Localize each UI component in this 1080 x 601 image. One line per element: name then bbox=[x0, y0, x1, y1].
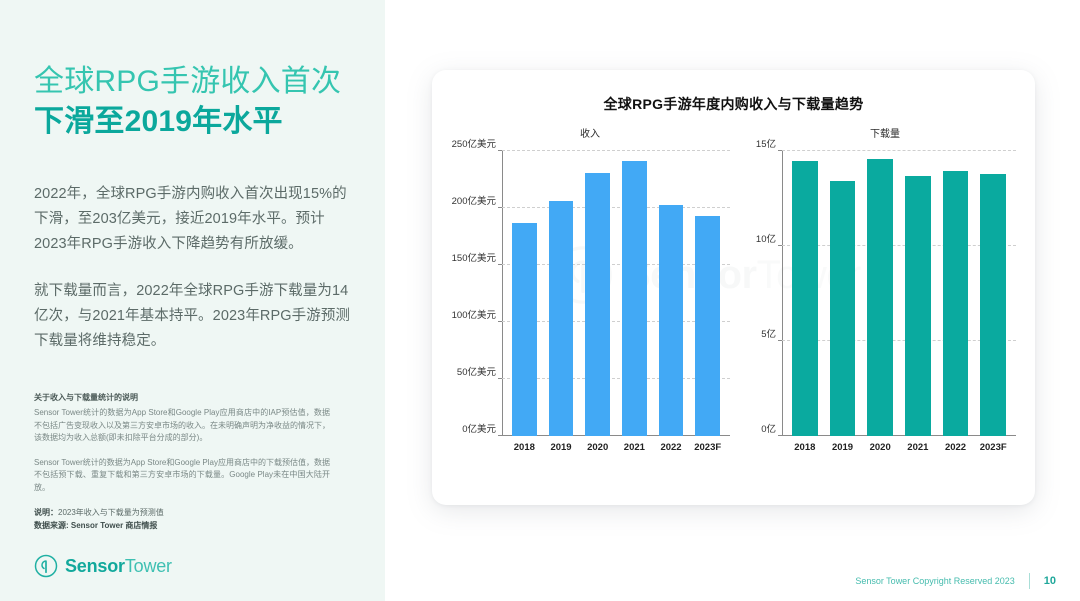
revenue-x-tick-labels: 201820192020202120222023F bbox=[502, 442, 730, 453]
right-chart-area: 全球RPG手游年度内购收入与下载量趋势 SensorTower 收入 bbox=[385, 0, 1080, 601]
downloads-y-tick-label: 5亿 bbox=[761, 326, 776, 340]
revenue-bar-2018[interactable] bbox=[512, 223, 537, 436]
logo-text-bold: Sensor bbox=[65, 556, 125, 576]
fine-print-note-value: 2023年收入与下载量为预测值 bbox=[58, 508, 164, 517]
downloads-y-tick-label: 15亿 bbox=[756, 136, 776, 150]
revenue-bar-2019[interactable] bbox=[549, 201, 574, 436]
fine-print-source: 数据来源: Sensor Tower 商店情报 bbox=[34, 519, 330, 532]
downloads-bar-2019[interactable] bbox=[830, 181, 856, 436]
revenue-y-tick-label: 50亿美元 bbox=[457, 364, 496, 378]
downloads-bar-2018[interactable] bbox=[792, 161, 818, 436]
sensor-tower-logo: SensorTower bbox=[34, 554, 172, 578]
revenue-x-label-2019: 2019 bbox=[543, 442, 580, 453]
sensor-tower-logo-text: SensorTower bbox=[65, 554, 172, 578]
downloads-x-tick-labels: 201820192020202120222023F bbox=[782, 442, 1016, 453]
downloads-y-tick-label: 10亿 bbox=[756, 231, 776, 245]
revenue-bar-slot bbox=[506, 151, 543, 436]
subplot-downloads-title: 下载量 bbox=[740, 125, 1030, 140]
revenue-bar-slot bbox=[543, 151, 580, 436]
slide-footer: Sensor Tower Copyright Reserved 2023 10 bbox=[855, 573, 1056, 589]
revenue-bar-2022[interactable] bbox=[659, 205, 684, 436]
downloads-bar-slot bbox=[899, 151, 937, 436]
subplot-downloads: 下载量 0亿5亿10亿15亿 201820192020202120222023F bbox=[740, 125, 1030, 500]
downloads-x-label-2022: 2022 bbox=[937, 442, 975, 453]
downloads-bar-slot bbox=[937, 151, 975, 436]
revenue-plot-area: 0亿美元50亿美元100亿美元150亿美元200亿美元250亿美元 bbox=[502, 151, 730, 436]
slide-root: 全球RPG手游收入首次 下滑至2019年水平 2022年，全球RPG手游内购收入… bbox=[0, 0, 1080, 601]
revenue-bar-2023F[interactable] bbox=[695, 216, 720, 436]
downloads-bar-slot bbox=[861, 151, 899, 436]
left-text-panel: 全球RPG手游收入首次 下滑至2019年水平 2022年，全球RPG手游内购收入… bbox=[0, 0, 385, 601]
footer-divider bbox=[1029, 573, 1030, 589]
revenue-bars bbox=[502, 151, 730, 436]
fine-print-paragraph-1: Sensor Tower统计的数据为App Store和Google Play应… bbox=[34, 407, 330, 445]
downloads-bars bbox=[782, 151, 1016, 436]
downloads-bar-slot bbox=[786, 151, 824, 436]
downloads-x-label-2018: 2018 bbox=[786, 442, 824, 453]
revenue-x-label-2018: 2018 bbox=[506, 442, 543, 453]
fine-print-block: 关于收入与下载量统计的说明 Sensor Tower统计的数据为App Stor… bbox=[34, 392, 330, 532]
body-copy: 2022年，全球RPG手游内购收入首次出现15%的下滑，至203亿美元，接近20… bbox=[34, 182, 354, 376]
revenue-x-label-2021: 2021 bbox=[616, 442, 653, 453]
chart-card: 全球RPG手游年度内购收入与下载量趋势 SensorTower 收入 bbox=[432, 70, 1035, 505]
downloads-y-tick-label: 0亿 bbox=[761, 421, 776, 435]
revenue-y-tick-label: 100亿美元 bbox=[452, 307, 496, 321]
logo-text-light: Tower bbox=[125, 556, 172, 576]
chart-title: 全球RPG手游年度内购收入与下载量趋势 bbox=[432, 94, 1035, 114]
headline-line-2: 下滑至2019年水平 bbox=[34, 102, 364, 142]
downloads-bar-2020[interactable] bbox=[867, 159, 893, 436]
revenue-bar-slot bbox=[616, 151, 653, 436]
fine-print-note-label: 说明： bbox=[34, 508, 58, 517]
charts-container: 收入 0亿美元50亿美元100亿美元150亿美元200亿美元250亿美元 201… bbox=[432, 125, 1035, 500]
body-paragraph-2: 就下载量而言，2022年全球RPG手游下载量为14亿次，与2021年基本持平。2… bbox=[34, 279, 354, 354]
revenue-y-tick-label: 250亿美元 bbox=[452, 136, 496, 150]
downloads-bar-slot bbox=[974, 151, 1012, 436]
revenue-bar-2020[interactable] bbox=[585, 173, 610, 436]
page-title: 全球RPG手游收入首次 下滑至2019年水平 bbox=[34, 62, 364, 142]
revenue-x-label-2020: 2020 bbox=[579, 442, 616, 453]
body-paragraph-1: 2022年，全球RPG手游内购收入首次出现15%的下滑，至203亿美元，接近20… bbox=[34, 182, 354, 257]
revenue-x-label-2023F: 2023F bbox=[689, 442, 726, 453]
downloads-x-label-2019: 2019 bbox=[824, 442, 862, 453]
subplot-revenue: 收入 0亿美元50亿美元100亿美元150亿美元200亿美元250亿美元 201… bbox=[440, 125, 740, 500]
revenue-y-tick-label: 150亿美元 bbox=[452, 250, 496, 264]
fine-print-heading: 关于收入与下载量统计的说明 bbox=[34, 392, 330, 404]
revenue-y-tick-label: 0亿美元 bbox=[462, 421, 496, 435]
sensor-tower-logo-icon bbox=[34, 554, 58, 578]
downloads-x-label-2023F: 2023F bbox=[974, 442, 1012, 453]
downloads-bar-2021[interactable] bbox=[905, 176, 931, 436]
fine-print-note: 说明：2023年收入与下载量为预测值 bbox=[34, 506, 330, 519]
downloads-bar-2023F[interactable] bbox=[980, 174, 1006, 436]
revenue-y-tick-label: 200亿美元 bbox=[452, 193, 496, 207]
downloads-bar-2022[interactable] bbox=[943, 171, 969, 436]
downloads-plot-area: 0亿5亿10亿15亿 bbox=[782, 151, 1016, 436]
revenue-bar-slot bbox=[689, 151, 726, 436]
revenue-bar-slot bbox=[653, 151, 690, 436]
footer-copyright: Sensor Tower Copyright Reserved 2023 bbox=[855, 576, 1014, 586]
revenue-bar-slot bbox=[579, 151, 616, 436]
downloads-bar-slot bbox=[824, 151, 862, 436]
revenue-bar-2021[interactable] bbox=[622, 161, 647, 436]
page-number: 10 bbox=[1044, 575, 1056, 587]
headline-line-1: 全球RPG手游收入首次 bbox=[34, 62, 364, 102]
downloads-x-label-2020: 2020 bbox=[861, 442, 899, 453]
downloads-x-label-2021: 2021 bbox=[899, 442, 937, 453]
fine-print-paragraph-2: Sensor Tower统计的数据为App Store和Google Play应… bbox=[34, 457, 330, 495]
revenue-x-label-2022: 2022 bbox=[653, 442, 690, 453]
